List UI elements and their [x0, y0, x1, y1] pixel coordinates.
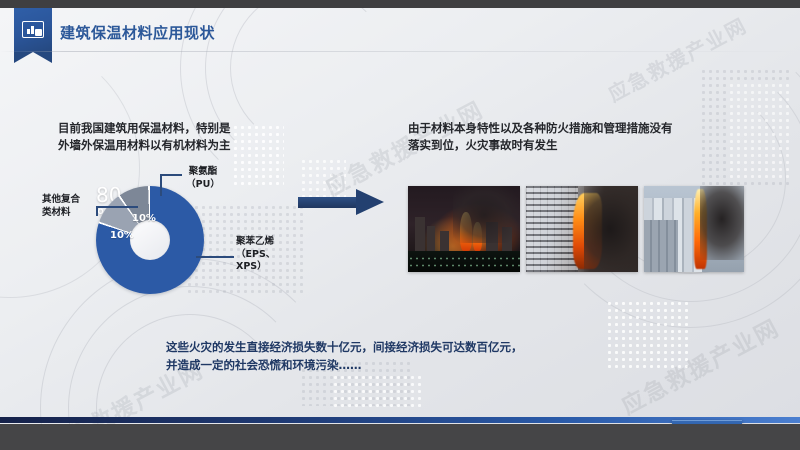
presentation-chart-icon	[22, 21, 44, 38]
top-letterbox-strip	[0, 0, 800, 8]
callout-label-eps-line-2: （EPS、	[236, 249, 306, 262]
page-title: 建筑保温材料应用现状	[60, 22, 215, 43]
callout-label-pu: 聚氨酯 （PU）	[168, 166, 238, 191]
callout-label-eps: 聚苯乙烯 （EPS、 XPS）	[236, 236, 306, 274]
fire-photo-1	[408, 186, 520, 272]
bottom-note-line-2: 并造成一定的社会恐慌和环境污染……	[166, 356, 686, 374]
left-heading: 目前我国建筑用保温材料，特别是 外墙外保温用材料以有机材料为主	[58, 120, 308, 154]
right-heading-line-1: 由于材料本身特性以及各种防火措施和管理措施没有	[408, 120, 758, 137]
callout-label-pu-line-1: 聚氨酯	[168, 166, 238, 179]
callout-label-eps-line-3: XPS）	[236, 261, 306, 274]
bottom-note: 这些火灾的发生直接经济损失数十亿元，间接经济损失可达数百亿元， 并造成一定的社会…	[166, 338, 686, 374]
callout-leader-other-horizontal	[96, 206, 138, 208]
bottom-note-line-1: 这些火灾的发生直接经济损失数十亿元，间接经济损失可达数百亿元，	[166, 338, 686, 356]
right-heading-line-2: 落实到位，火灾事故时有发生	[408, 137, 758, 154]
callout-label-pu-line-2: （PU）	[168, 179, 238, 192]
insulation-material-donut-chart: 10% 10% 80 %	[96, 186, 216, 294]
presentation-slide: 应急救援产业网 应急救援产业网 应急救援产业网 应急救援产业网 建筑保温材料应用…	[0, 8, 800, 424]
title-divider	[0, 51, 800, 52]
donut-center-hole	[130, 220, 170, 260]
left-heading-line-1: 目前我国建筑用保温材料，特别是	[58, 120, 308, 137]
callout-leader-eps-horizontal	[196, 256, 234, 258]
bottom-letterbox-strip	[0, 424, 800, 450]
slice-label-pu: 10%	[132, 213, 156, 224]
callout-label-other: 其他复合 类材料	[42, 194, 100, 219]
callout-label-other-line-1: 其他复合	[42, 194, 100, 207]
left-heading-line-2: 外墙外保温用材料以有机材料为主	[58, 137, 308, 154]
callout-label-eps-line-1: 聚苯乙烯	[236, 236, 306, 249]
arrow-head	[356, 189, 384, 215]
callout-leader-pu-vertical	[160, 174, 162, 196]
right-heading: 由于材料本身特性以及各种防火措施和管理措施没有 落实到位，火灾事故时有发生	[408, 120, 758, 154]
fire-photo-3	[644, 186, 744, 272]
callout-label-other-line-2: 类材料	[42, 207, 100, 220]
right-arrow-icon	[298, 189, 384, 215]
fire-photo-2	[526, 186, 638, 272]
slice-label-other: 10%	[110, 230, 134, 241]
arrow-shaft	[298, 197, 360, 208]
fire-photo-strip	[408, 186, 744, 272]
slide-ribbon-badge	[14, 8, 52, 52]
